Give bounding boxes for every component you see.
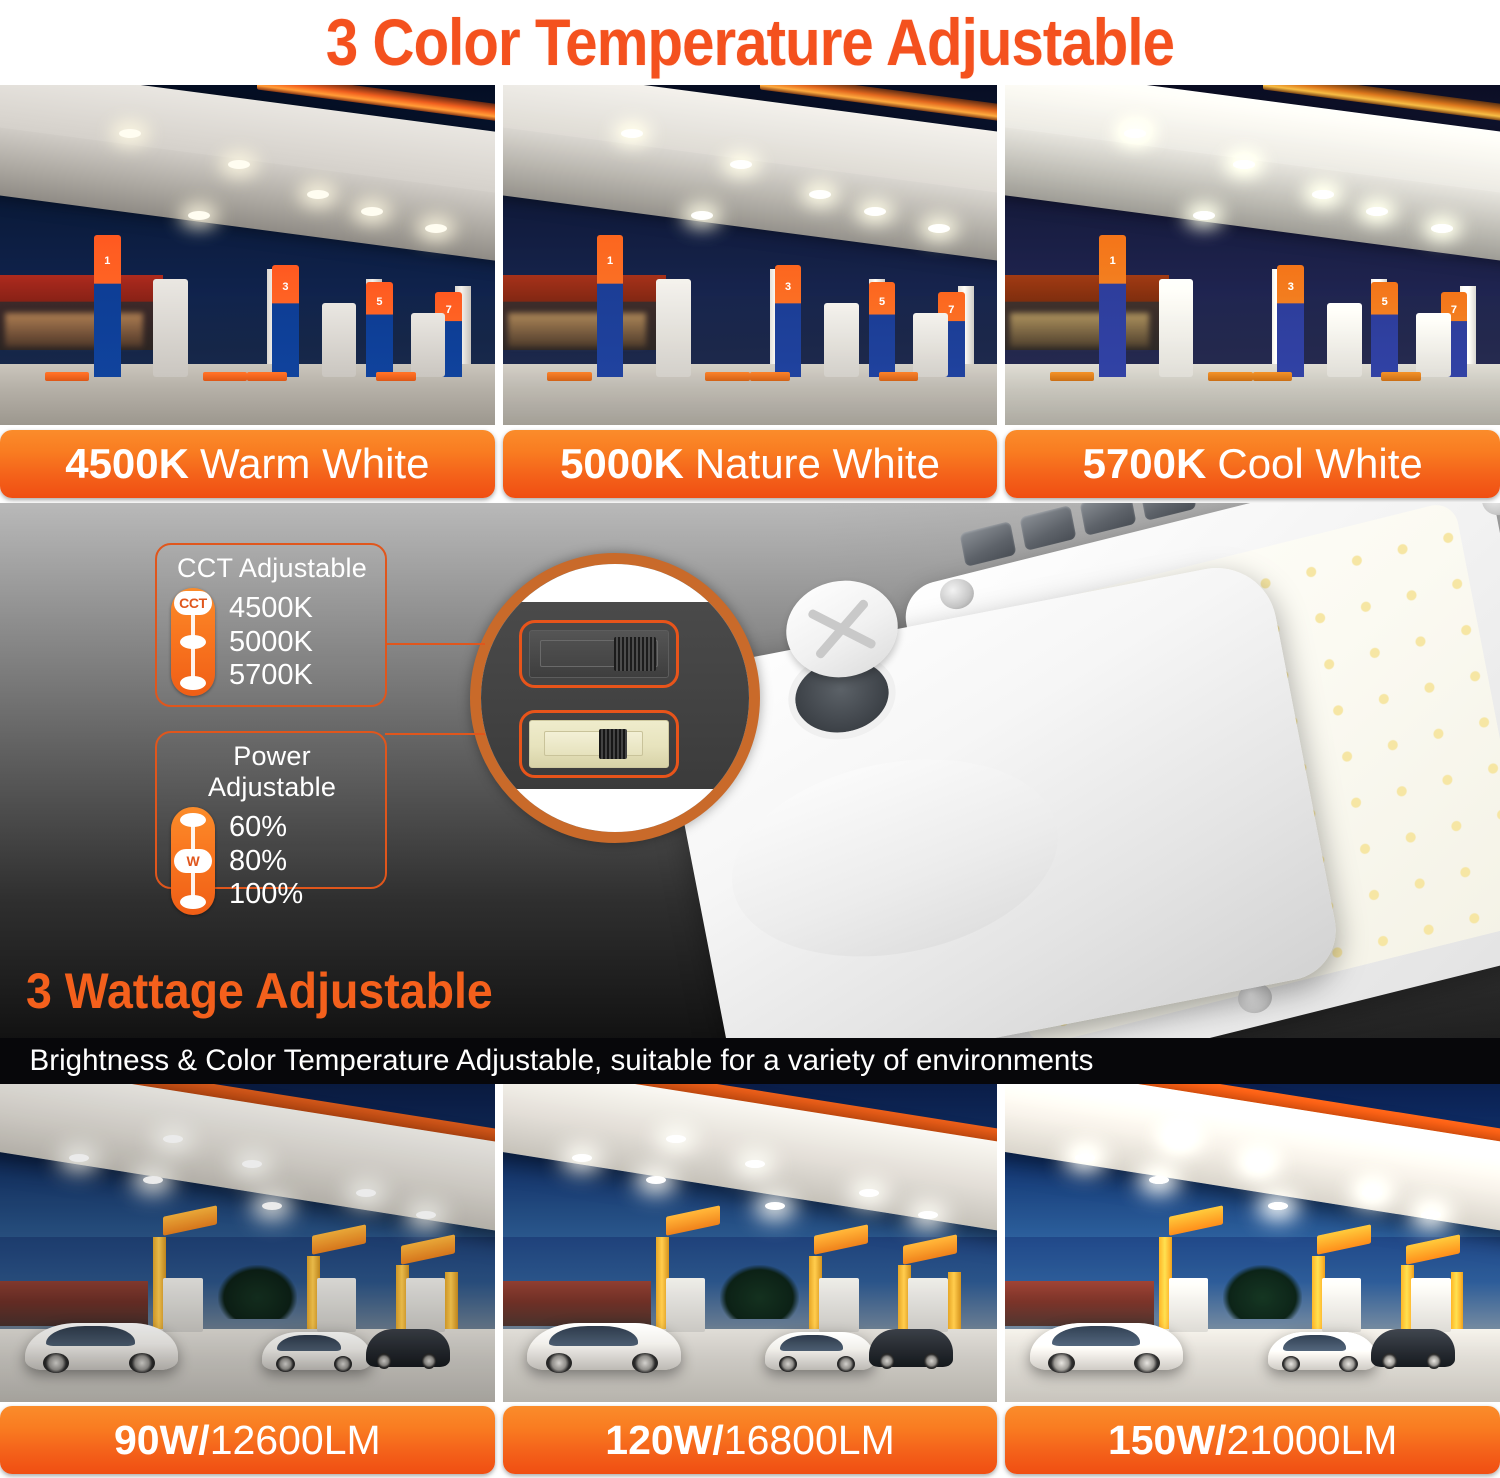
cct-option-5700k: 5700K (229, 659, 313, 691)
power-icon-label: W (174, 849, 212, 873)
wattage-value-120w: 120W/ (605, 1417, 724, 1464)
wattage-photo-row (0, 1084, 1500, 1402)
page-title: 3 Color Temperature Adjustable (326, 4, 1174, 80)
cct-lead-line (385, 643, 485, 645)
wattage-label-90w: 90W/ 12600LM (0, 1406, 495, 1474)
wattage-label-150w: 150W/ 21000LM (1005, 1406, 1500, 1474)
product-infographic: 3 Color Temperature Adjustable (0, 0, 1500, 1478)
cct-option-5000k: 5000K (229, 626, 313, 658)
cct-option-4500k: 4500K (229, 592, 313, 624)
cct-label-5000k: 5000K Nature White (503, 430, 998, 498)
cct-label-row: 4500K Warm White 5000K Nature White 5700… (0, 430, 1500, 498)
wattage-value-90w: 90W/ (114, 1417, 210, 1464)
photo-dusk-gas-station (1005, 1084, 1500, 1402)
description-bar: Brightness & Color Temperature Adjustabl… (0, 1038, 1500, 1084)
wattage-heading: 3 Wattage Adjustable (26, 962, 493, 1020)
vent-slot-icon (959, 521, 1016, 567)
power-options-list: 60% 80% 100% (229, 811, 303, 910)
cct-label-5700k: 5700K Cool White (1005, 430, 1500, 498)
wattage-photo-150w (1005, 1084, 1500, 1402)
power-dip-switch (519, 710, 679, 778)
cct-name-nature-white: Nature White (695, 440, 940, 488)
photo-dusk-gas-station (0, 1084, 495, 1402)
photo-dusk-gas-station (503, 1084, 998, 1402)
cct-callout-title: CCT Adjustable (171, 553, 373, 584)
cct-value-4500k: 4500K (65, 440, 189, 488)
power-adjustable-callout: Power Adjustable W 60% 80% 100% (155, 731, 387, 889)
cct-adjustable-callout: CCT Adjustable CCT 4500K 5000K 5700K (155, 543, 387, 707)
wattage-value-150w: 150W/ (1108, 1417, 1227, 1464)
header-bar: 3 Color Temperature Adjustable (0, 0, 1500, 84)
power-option-100: 100% (229, 878, 303, 910)
photo-night-gas-station: 1 3 5 7 (503, 85, 998, 425)
cct-options-list: 4500K 5000K 5700K (229, 592, 313, 691)
lumens-value-21000lm: 21000LM (1226, 1417, 1397, 1464)
wattage-photo-90w (0, 1084, 495, 1402)
cct-value-5000k: 5000K (560, 440, 684, 488)
cct-slider-icon: CCT (171, 588, 215, 696)
cct-dip-switch (519, 620, 679, 688)
photo-night-gas-station: 1 3 5 7 (0, 85, 495, 425)
cct-name-warm-white: Warm White (200, 440, 429, 488)
cct-photo-4500k: 1 3 5 7 (0, 85, 495, 425)
power-option-60: 60% (229, 811, 303, 843)
power-lead-line (385, 733, 485, 735)
photo-night-gas-station: 1 3 5 7 (1005, 85, 1500, 425)
power-callout-title: Power Adjustable (171, 741, 373, 803)
lumens-value-12600lm: 12600LM (210, 1417, 381, 1464)
power-option-80: 80% (229, 845, 303, 877)
led-canopy-light-fixture (690, 503, 1500, 1040)
cct-photo-5700k: 1 3 5 7 (1005, 85, 1500, 425)
vent-slot-icon (1019, 505, 1076, 551)
cct-photo-row: 1 3 5 7 (0, 85, 1500, 425)
wattage-label-120w: 120W/ 16800LM (503, 1406, 998, 1474)
wattage-photo-120w (503, 1084, 998, 1402)
lumens-value-16800lm: 16800LM (724, 1417, 895, 1464)
cct-name-cool-white: Cool White (1217, 440, 1422, 488)
cct-photo-5000k: 1 3 5 7 (503, 85, 998, 425)
switch-magnifier (470, 553, 760, 843)
cct-value-5700k: 5700K (1083, 440, 1207, 488)
cct-icon-label: CCT (174, 591, 212, 615)
cct-label-4500k: 4500K Warm White (0, 430, 495, 498)
vent-slot-icon (1079, 503, 1136, 536)
wattage-label-row: 90W/ 12600LM 120W/ 16800LM 150W/ 21000LM (0, 1406, 1500, 1474)
description-text: Brightness & Color Temperature Adjustabl… (0, 1044, 1093, 1078)
power-slider-icon: W (171, 807, 215, 915)
product-detail-panel: CCT Adjustable CCT 4500K 5000K 5700K Pow… (0, 503, 1500, 1040)
